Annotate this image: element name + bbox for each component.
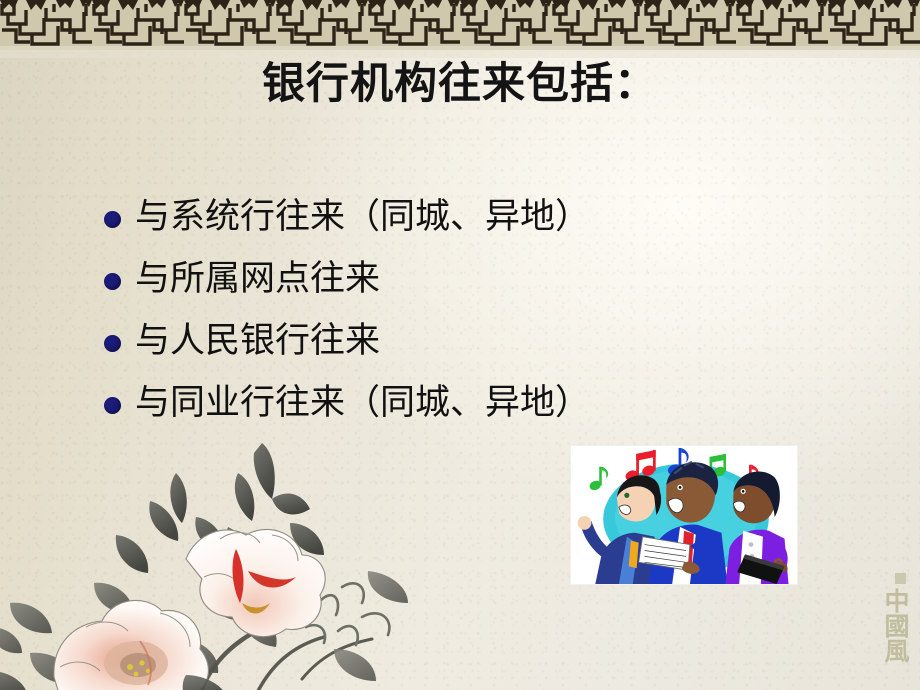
filled-circle-bullet-icon <box>104 397 121 414</box>
list-item-label: 与人民银行往来 <box>135 322 380 361</box>
chinese-meander-border <box>0 0 920 58</box>
filled-circle-bullet-icon <box>104 273 121 290</box>
list-item-label: 与所属网点往来 <box>135 260 380 299</box>
presentation-slide: 银行机构往来包括： 与系统行往来（同城、异地） 与所属网点往来 与人民银行往来 … <box>0 0 920 690</box>
ink-wash-flower-painting <box>0 431 410 690</box>
clipart-svg <box>571 446 797 584</box>
watermark-stamp: 中國風 <box>856 582 908 668</box>
list-item: 与系统行往来（同城、异地） <box>104 186 864 248</box>
list-item: 与人民银行往来 <box>104 310 864 372</box>
bullet-list: 与系统行往来（同城、异地） 与所属网点往来 与人民银行往来 与同业行往来（同城、… <box>104 186 864 434</box>
meander-pattern-svg <box>0 0 920 58</box>
list-item-label: 与系统行往来（同城、异地） <box>135 198 590 237</box>
filled-circle-bullet-icon <box>104 335 121 352</box>
three-singing-business-people-clipart <box>570 445 798 585</box>
filled-circle-bullet-icon <box>104 211 121 228</box>
list-item: 与所属网点往来 <box>104 248 864 310</box>
slide-title: 银行机构往来包括： <box>0 58 920 112</box>
list-item: 与同业行往来（同城、异地） <box>104 372 864 434</box>
list-item-label: 与同业行往来（同城、异地） <box>135 384 590 423</box>
